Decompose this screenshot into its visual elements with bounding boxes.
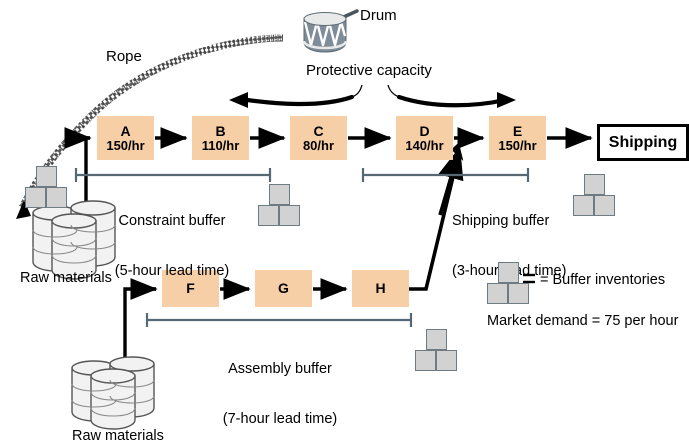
- raw-materials-label-upper: Raw materials: [20, 270, 112, 286]
- raw-materials-label-lower: Raw materials: [72, 428, 164, 444]
- process-label-H: H: [375, 281, 385, 296]
- diagram-canvas: A 150/hr B 110/hr C 80/hr D 140/hr E 150…: [0, 0, 689, 448]
- assembly-buffer-caption: Assembly buffer (7-hour lead time): [180, 328, 380, 448]
- drum-label: Drum: [360, 7, 397, 24]
- legend-block-top: [498, 262, 519, 283]
- legend-block-bottom-right: [508, 283, 529, 304]
- process-label-A: A: [120, 124, 130, 139]
- process-box-A[interactable]: A 150/hr: [97, 116, 154, 160]
- process-rate-D: 140/hr: [405, 139, 443, 153]
- process-box-H[interactable]: H: [352, 270, 409, 307]
- process-box-B[interactable]: B 110/hr: [192, 116, 249, 160]
- constraint-buffer-label: Constraint buffer: [72, 213, 272, 230]
- inventory-block-top: [584, 174, 605, 195]
- inventory-block-bottom-right: [436, 350, 457, 371]
- inventory-block-top: [269, 184, 290, 205]
- inventory-block-bottom-right: [594, 195, 615, 216]
- bracket-assembly-buffer: [147, 313, 411, 327]
- inventory-block-top: [36, 166, 57, 187]
- legend-buffer-inventories-text: = Buffer inventories: [540, 272, 665, 288]
- process-rate-A: 150/hr: [106, 139, 144, 153]
- process-label-C: C: [313, 124, 323, 139]
- process-rate-B: 110/hr: [202, 139, 240, 153]
- process-label-E: E: [513, 124, 522, 139]
- shipping-label: Shipping: [609, 134, 677, 152]
- inventory-block-bottom-right: [279, 205, 300, 226]
- legend-block-bottom-left: [487, 283, 508, 304]
- inventory-block-bottom-left: [573, 195, 594, 216]
- process-rate-C: 80/hr: [303, 139, 334, 153]
- inventory-stack-assembly: [415, 329, 459, 371]
- process-label-D: D: [419, 124, 429, 139]
- process-box-C[interactable]: C 80/hr: [290, 116, 347, 160]
- assembly-buffer-leadtime: (7-hour lead time): [180, 411, 380, 428]
- raw-materials-barrels-lower: [72, 357, 154, 429]
- process-box-D[interactable]: D 140/hr: [396, 116, 453, 160]
- rope-label: Rope: [106, 48, 142, 65]
- constraint-buffer-caption: Constraint buffer (5-hour lead time): [72, 180, 272, 313]
- inventory-stack-constraint: [258, 184, 302, 226]
- protective-capacity-arrows: [229, 85, 516, 108]
- inventory-block-bottom-left: [415, 350, 436, 371]
- process-rate-E: 150/hr: [498, 139, 536, 153]
- process-box-E[interactable]: E 150/hr: [489, 116, 546, 160]
- process-label-G: G: [278, 281, 289, 296]
- inventory-stack-shipping: [573, 174, 617, 216]
- assembly-buffer-label: Assembly buffer: [180, 361, 380, 378]
- inventory-block-bottom-right: [46, 187, 67, 208]
- inventory-block-top: [426, 329, 447, 350]
- inventory-block-bottom-left: [25, 187, 46, 208]
- legend-inventory-icon: [487, 262, 531, 304]
- legend-market-demand-text: Market demand = 75 per hour: [487, 313, 678, 329]
- inventory-stack-raw-upper: [25, 166, 69, 208]
- inventory-block-bottom-left: [258, 205, 279, 226]
- drum-icon: [304, 11, 357, 52]
- process-label-B: B: [215, 124, 225, 139]
- protective-capacity-label: Protective capacity: [306, 62, 432, 79]
- shipping-box[interactable]: Shipping: [597, 124, 689, 161]
